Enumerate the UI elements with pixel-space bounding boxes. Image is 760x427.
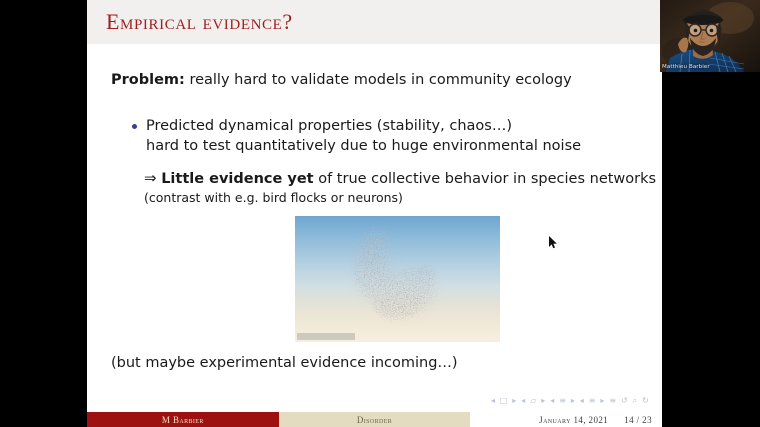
footer-section: Disorder (279, 412, 471, 427)
slide-canvas: Empirical evidence? Problem: really hard… (87, 0, 662, 427)
murmuration-photo (295, 216, 500, 342)
bullet-item: Predicted dynamical properties (stabilit… (146, 116, 581, 156)
slide-title-bar: Empirical evidence? (87, 0, 662, 44)
conclusion-rest: of true collective behavior in species n… (314, 171, 656, 187)
implies-arrow-icon: ⇒ (144, 169, 157, 187)
webcam-participant-name: Matthieu Barbier (662, 64, 710, 70)
bullet-item-line1: Predicted dynamical properties (stabilit… (146, 116, 581, 136)
footer-author: M Barbier (87, 412, 279, 427)
presentation-screen-share: Empirical evidence? Problem: really hard… (0, 0, 760, 427)
webcam-video-tile[interactable]: Matthieu Barbier (660, 0, 760, 72)
closing-remark: (but maybe experimental evidence incomin… (111, 355, 458, 371)
footer-info: January 14, 2021 14 / 23 (470, 412, 662, 427)
photo-watermark (297, 333, 355, 340)
bullet-dot-icon (132, 124, 137, 129)
conclusion-block: ⇒ Little evidence yet of true collective… (144, 169, 662, 205)
problem-label: Problem: (111, 72, 185, 88)
slide-footer: M Barbier Disorder January 14, 2021 14 /… (87, 412, 662, 427)
bullet-item-line2: hard to test quantitatively due to huge … (146, 136, 581, 156)
beamer-navigation-symbols[interactable]: ◂ □ ▸ ◂ ▱ ▸ ◂ ≡ ▸ ◂ ≡ ▸ ≡ ↺ ⌕ ↻ (491, 396, 650, 406)
problem-statement: Problem: really hard to validate models … (111, 72, 572, 88)
conclusion-parenthetical: (contrast with e.g. bird flocks or neuro… (144, 190, 662, 205)
conclusion-line: ⇒ Little evidence yet of true collective… (144, 169, 662, 187)
slide-title: Empirical evidence? (106, 9, 293, 35)
conclusion-emphasis: Little evidence yet (161, 171, 313, 187)
footer-page-number: 14 / 23 (624, 415, 652, 425)
mouse-cursor-icon (549, 234, 558, 247)
problem-text: really hard to validate models in commun… (185, 72, 572, 88)
footer-date: January 14, 2021 (539, 415, 608, 425)
